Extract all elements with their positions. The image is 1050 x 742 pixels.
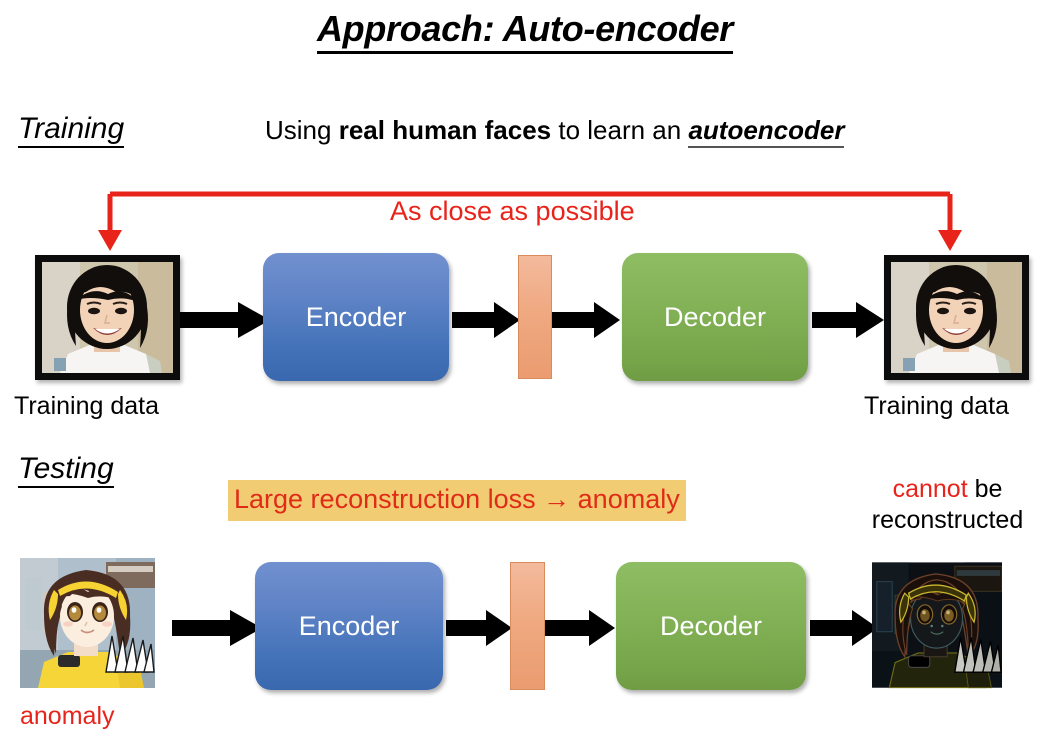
block-arrow-right-icon — [552, 300, 620, 340]
latent-bottleneck-training — [518, 255, 552, 379]
latent-bottleneck-testing — [510, 562, 545, 690]
flow-arrow-1 — [180, 300, 270, 340]
page-title: Approach: Auto-encoder — [0, 8, 1050, 50]
training-input-caption: Training data — [14, 392, 159, 421]
block-arrow-right-icon — [452, 300, 520, 340]
testing-input-caption: anomaly — [20, 702, 115, 731]
testing-input-photo — [20, 558, 155, 688]
human-face-photo-output — [891, 262, 1022, 373]
block-arrow-right-icon — [446, 608, 512, 648]
red-down-arrow-icon-left — [98, 230, 122, 251]
decoder-label-testing: Decoder — [660, 611, 762, 642]
flow-arrow-4 — [812, 300, 884, 340]
decoder-box-testing[interactable]: Decoder — [616, 562, 806, 690]
testing-output-photo — [872, 560, 1002, 690]
reconstructed-word: reconstructed — [872, 506, 1023, 534]
training-input-photo — [35, 255, 180, 380]
encoder-box-testing[interactable]: Encoder — [255, 562, 443, 690]
reconstruction-loss-note: Large reconstruction loss → anomaly — [228, 480, 686, 521]
section-label-testing: Testing — [18, 452, 114, 486]
page-title-text: Approach: Auto-encoder — [317, 8, 733, 54]
flow-arrow-3 — [552, 300, 620, 340]
block-arrow-right-icon — [810, 608, 878, 648]
flow-arrow-2 — [452, 300, 520, 340]
be-word: be — [968, 475, 1003, 503]
encoder-label-testing: Encoder — [299, 611, 400, 642]
section-label-training-text: Training — [18, 112, 124, 148]
cannot-reconstruct-note: cannot be reconstructed — [845, 474, 1050, 536]
training-output-photo — [884, 255, 1029, 380]
anime-character-photo-reconstructed — [872, 560, 1002, 690]
human-face-photo-input — [42, 262, 173, 373]
bracket-caption: As close as possible — [390, 196, 635, 227]
block-arrow-right-icon — [812, 300, 884, 340]
encoder-label-training: Encoder — [306, 302, 407, 333]
block-arrow-right-icon — [172, 608, 262, 648]
flow-arrow-8 — [810, 608, 878, 648]
anime-character-photo-input — [20, 558, 155, 688]
decoder-label-training: Decoder — [664, 302, 766, 333]
section-label-testing-text: Testing — [18, 452, 114, 488]
decoder-box-training[interactable]: Decoder — [622, 253, 808, 381]
flow-arrow-5 — [172, 608, 262, 648]
block-arrow-right-icon — [545, 608, 615, 648]
subtitle-middle: to learn an — [551, 115, 688, 145]
section-label-training: Training — [18, 112, 124, 146]
block-arrow-right-icon — [180, 300, 270, 340]
flow-arrow-7 — [545, 608, 615, 648]
training-subtitle: Using real human faces to learn an autoe… — [265, 115, 844, 146]
flow-arrow-6 — [446, 608, 512, 648]
subtitle-bold: real human faces — [339, 115, 551, 145]
red-down-arrow-icon-right — [938, 230, 962, 251]
subtitle-emphasis: autoencoder — [688, 115, 844, 148]
cannot-word: cannot — [893, 475, 968, 503]
subtitle-prefix: Using — [265, 115, 339, 145]
encoder-box-training[interactable]: Encoder — [263, 253, 449, 381]
training-output-caption: Training data — [864, 392, 1009, 421]
